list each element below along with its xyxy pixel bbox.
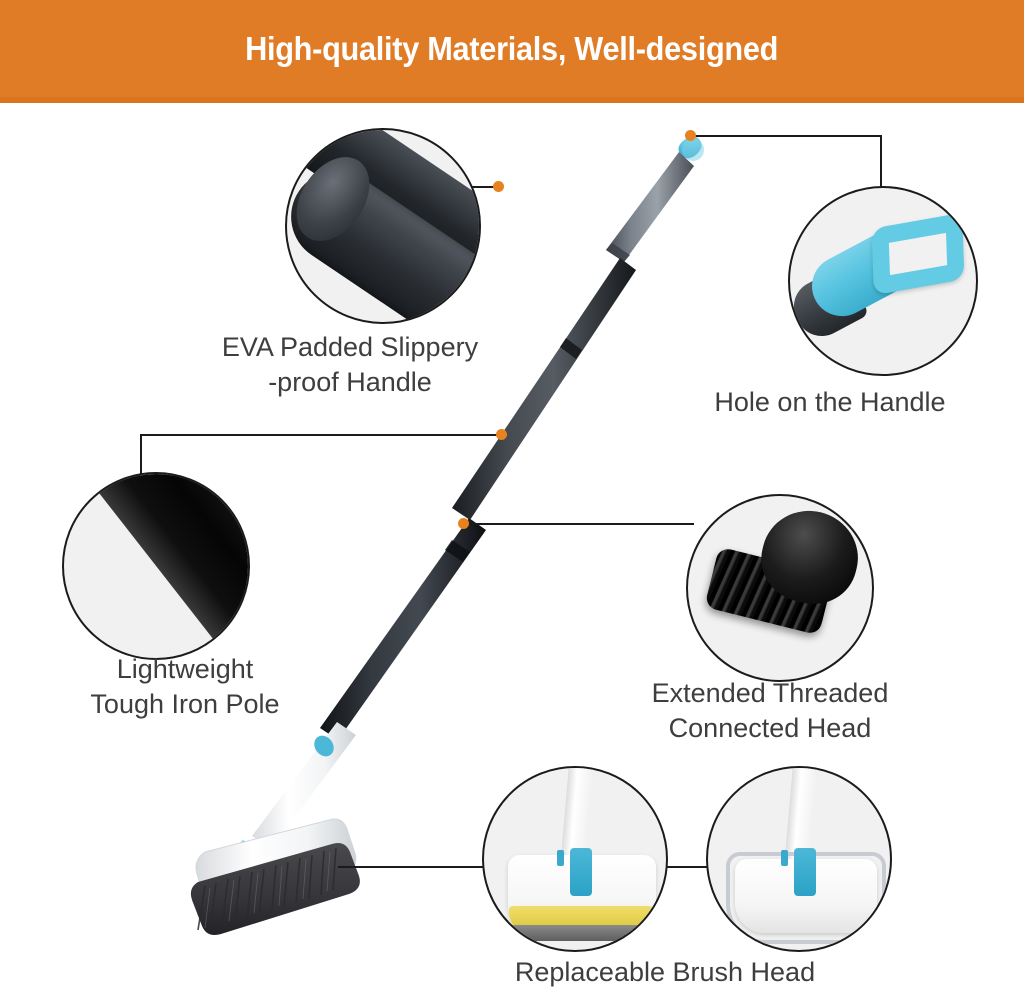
callout-label-eva-handle: EVA Padded Slippery -proof Handle: [150, 330, 550, 400]
pole-lower: [320, 518, 486, 740]
brush-white-neck: [252, 722, 356, 848]
black-pole-icon: [64, 474, 248, 658]
anchor-dot-iron-pole: [496, 429, 507, 440]
callout-label-threaded-head: Extended Threaded Connected Head: [600, 676, 940, 746]
cyan-hook-icon: [790, 188, 976, 374]
leader-line-handle-hole-horizontal: [690, 135, 882, 137]
threaded-screw-icon: [688, 496, 872, 680]
callout-circle-brush-head-sponge: [482, 766, 668, 952]
anchor-dot-handle-hole: [685, 130, 696, 141]
callout-label-brush-head: Replaceable Brush Head: [455, 955, 875, 990]
pole-joint-upper: [560, 338, 582, 359]
brush-head-body: [196, 819, 356, 909]
page-title: High-quality Materials, Well-designed: [245, 30, 778, 68]
leader-line-iron-pole-vertical: [140, 434, 142, 478]
leader-line-threaded-head: [464, 523, 694, 525]
eva-tube-icon: [287, 130, 479, 322]
callout-circle-iron-pole: [62, 472, 250, 660]
anchor-dot-eva-handle: [493, 181, 504, 192]
callout-label-iron-pole: Lightweight Tough Iron Pole: [35, 652, 335, 722]
anchor-dot-threaded-head: [458, 518, 469, 529]
leader-line-brush-head: [338, 866, 486, 868]
pole-joint-lower: [445, 540, 470, 562]
callout-label-handle-hole: Hole on the Handle: [655, 385, 1005, 420]
brush-bristles: [191, 843, 360, 935]
callout-circle-threaded-head: [686, 494, 874, 682]
brush-head-sponge-icon: [484, 768, 666, 950]
callout-circle-handle-hole: [788, 186, 978, 376]
eva-grip: [606, 152, 694, 262]
brush-head-squeegee-icon: [708, 768, 890, 950]
callout-circle-brush-head-squeegee: [706, 766, 892, 952]
banner-underline: [0, 97, 1024, 103]
callout-circle-eva-handle: [285, 128, 481, 324]
header-banner: High-quality Materials, Well-designed: [0, 0, 1024, 97]
product-feature-infographic: High-quality Materials, Well-designed: [0, 0, 1024, 997]
leader-line-handle-hole-vertical: [880, 136, 882, 190]
brush-pivot-joint: [236, 838, 303, 869]
leader-line-iron-pole-horizontal: [140, 434, 502, 436]
